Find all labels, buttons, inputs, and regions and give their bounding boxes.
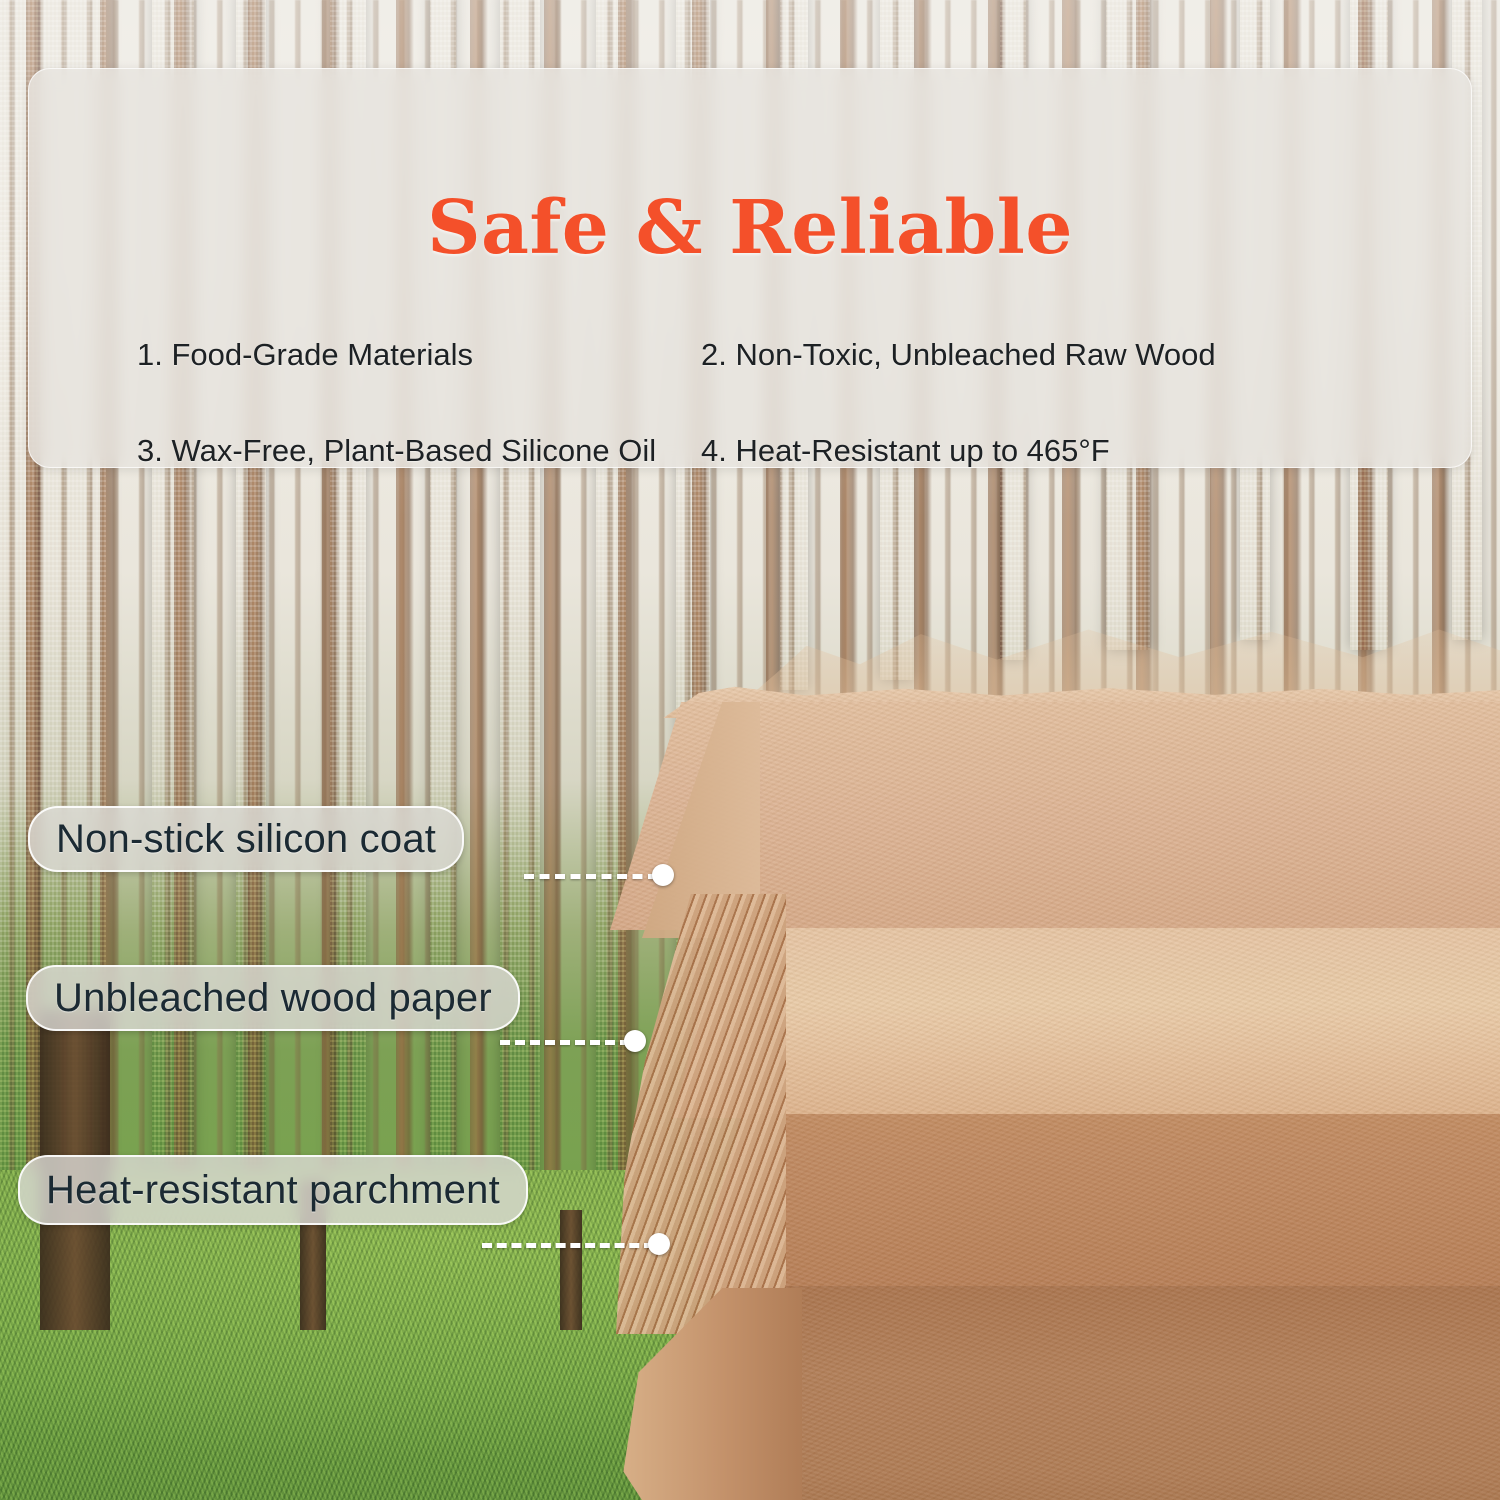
callout-connector-dot-2 — [624, 1030, 646, 1052]
callout-connector-line-2 — [500, 1040, 630, 1045]
tree-trunk — [560, 1210, 582, 1330]
product-paper-liner-stack — [610, 598, 1500, 1388]
liner-torn-top-edge — [738, 590, 1500, 706]
callout-label-silicon-coat: Non-stick silicon coat — [28, 806, 464, 872]
callout-label-parchment: Heat-resistant parchment — [18, 1155, 528, 1225]
callout-label-text: Unbleached wood paper — [54, 976, 492, 1021]
bullet-row: 3. Wax-Free, Plant-Based Silicone Oil 4.… — [29, 433, 1471, 468]
page-title: Safe & Reliable — [29, 185, 1471, 271]
callout-connector-line-1 — [524, 874, 658, 879]
bullet-item-2: 2. Non-Toxic, Unbleached Raw Wood — [701, 337, 1216, 373]
liner-stacked-edges-overlay — [616, 894, 786, 1334]
callout-label-wood-paper: Unbleached wood paper — [26, 965, 520, 1031]
bullet-item-1: 1. Food-Grade Materials — [29, 337, 701, 373]
callout-connector-dot-1 — [652, 864, 674, 886]
callout-label-text: Heat-resistant parchment — [46, 1168, 500, 1213]
header-panel: Safe & Reliable 1. Food-Grade Materials … — [28, 68, 1472, 468]
product-infographic: Safe & Reliable 1. Food-Grade Materials … — [0, 0, 1500, 1500]
callout-connector-line-3 — [482, 1243, 654, 1248]
feature-bullet-list: 1. Food-Grade Materials 2. Non-Toxic, Un… — [29, 337, 1471, 468]
callout-label-text: Non-stick silicon coat — [56, 817, 436, 862]
bullet-item-3: 3. Wax-Free, Plant-Based Silicone Oil — [29, 433, 701, 468]
bullet-item-4: 4. Heat-Resistant up to 465°F — [701, 433, 1110, 468]
callout-connector-dot-3 — [648, 1233, 670, 1255]
bullet-row: 1. Food-Grade Materials 2. Non-Toxic, Un… — [29, 337, 1471, 373]
